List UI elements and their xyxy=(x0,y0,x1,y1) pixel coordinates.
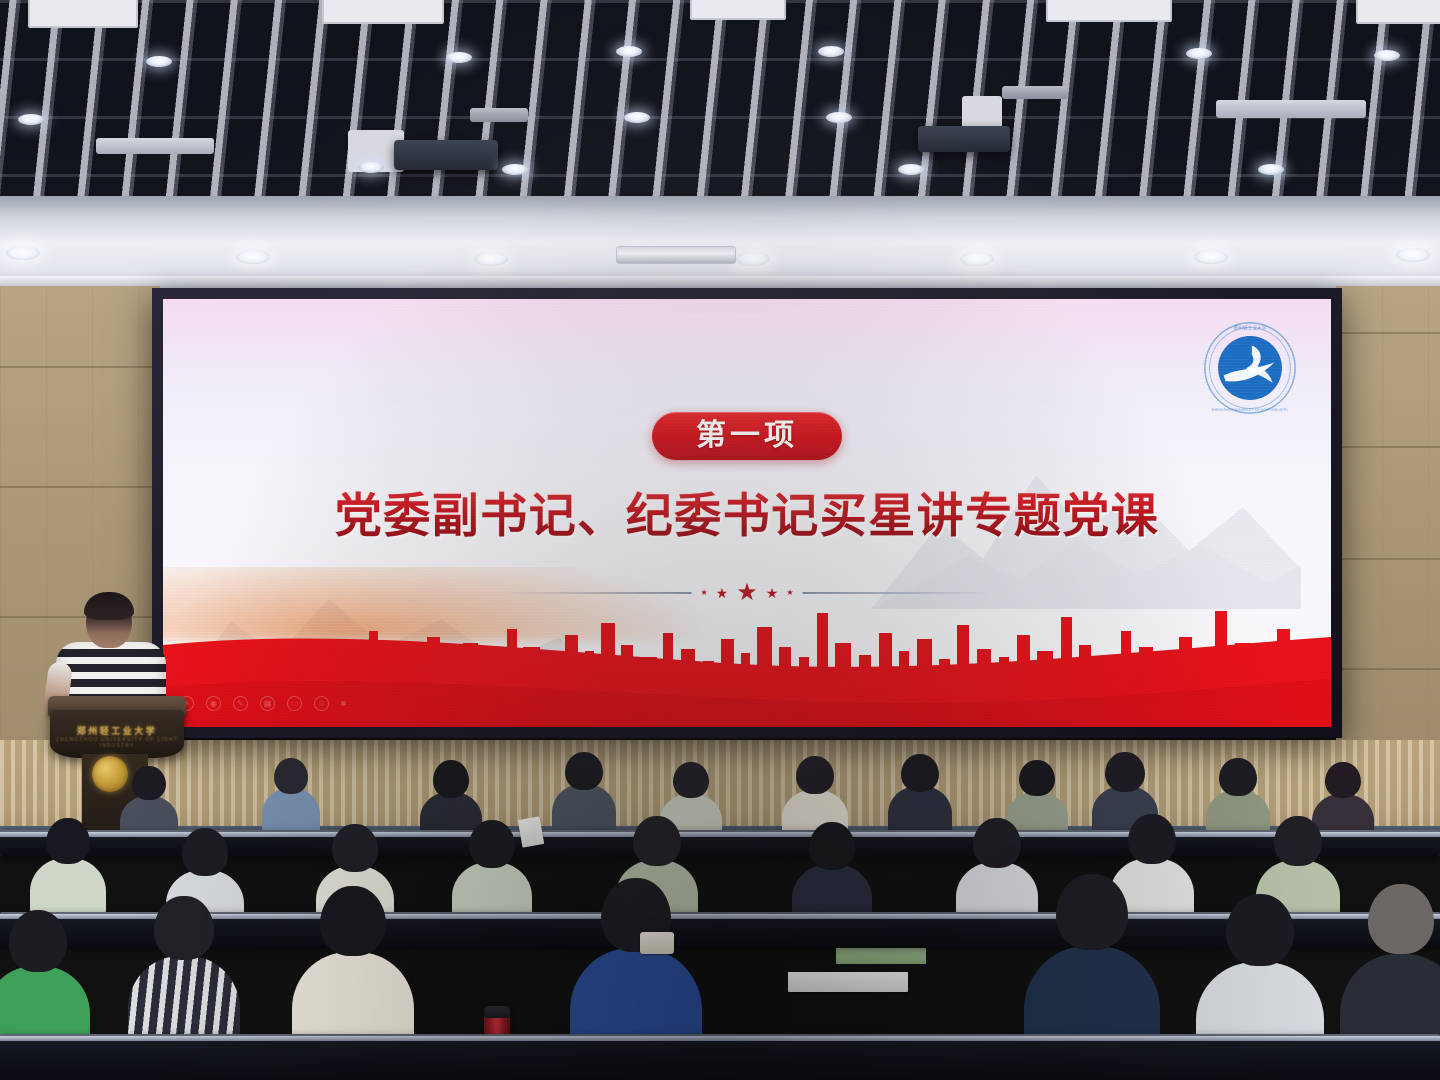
ceiling-downlight xyxy=(624,112,650,123)
audience-member xyxy=(30,818,106,914)
person-head xyxy=(1219,758,1257,796)
person-head xyxy=(1056,874,1128,950)
person-head xyxy=(9,910,67,972)
speaker-hair xyxy=(84,592,134,620)
person-head xyxy=(796,756,834,794)
ceiling-speaker xyxy=(1002,86,1068,99)
person-head xyxy=(901,754,939,792)
pen-icon[interactable]: ✎ xyxy=(233,696,248,711)
ceiling-air-duct xyxy=(1216,100,1366,118)
ceiling-access-panel xyxy=(690,0,786,20)
face-icon[interactable]: ☺ xyxy=(314,696,329,711)
person-head xyxy=(673,762,709,798)
audience-member xyxy=(888,754,952,832)
ceiling-access-panel xyxy=(322,0,444,24)
led-screen[interactable]: 郑州轻工业大学 ZHENGZHOU UNIVERSITY OF LIGHT IN… xyxy=(163,299,1331,727)
desk-surface xyxy=(0,1036,1440,1041)
audience-member xyxy=(128,896,240,1046)
projector-mount xyxy=(962,96,1002,130)
grid-icon[interactable]: ▦ xyxy=(260,696,275,711)
person-head xyxy=(320,886,386,956)
svg-text:郑州轻工业大学: 郑州轻工业大学 xyxy=(1234,324,1267,331)
slide-toolbar[interactable]: ☀ ◉ ✎ ▦ ▭ ☺ xyxy=(179,696,346,711)
wall-right xyxy=(1336,286,1440,756)
person-head xyxy=(1368,884,1434,954)
person-torso xyxy=(262,788,320,834)
person-head xyxy=(1274,816,1322,866)
thermos-cap xyxy=(484,1006,510,1018)
ceiling-downlight xyxy=(1258,164,1284,175)
lecture-hall-scene: 郑州轻工业大学 ZHENGZHOU UNIVERSITY OF LIGHT IN… xyxy=(0,0,1440,1080)
person-head xyxy=(1128,814,1176,864)
soffit-air-vent xyxy=(616,246,736,264)
ceiling-access-panel xyxy=(1356,0,1440,24)
soffit-downlight xyxy=(6,246,40,260)
audience-member xyxy=(552,752,616,832)
ceiling-projector xyxy=(918,126,1010,152)
soffit-downlight xyxy=(1396,248,1430,262)
ceiling-downlight xyxy=(1186,48,1212,59)
person-head xyxy=(469,820,515,868)
ceiling-downlight xyxy=(18,114,44,125)
audience-member xyxy=(262,758,320,832)
person-head xyxy=(46,818,90,864)
eye-icon[interactable]: ◉ xyxy=(206,696,221,711)
person-head xyxy=(132,766,166,800)
person-head xyxy=(154,896,214,960)
slide-skyline-graphic: ☀ ◉ ✎ ▦ ▭ ☺ xyxy=(163,567,1331,727)
audience-member xyxy=(0,910,90,1046)
person-head xyxy=(809,822,855,870)
ceiling-downlight xyxy=(818,46,844,57)
person-torso xyxy=(552,784,616,834)
podium-front-text: 郑州轻工业大学 xyxy=(50,724,184,737)
audience-seating xyxy=(0,744,1440,1080)
ceiling-speaker xyxy=(470,108,528,122)
audience-member xyxy=(792,822,872,922)
person-torso xyxy=(30,858,106,916)
person-head xyxy=(1019,760,1055,796)
soffit-downlight xyxy=(960,252,994,266)
audience-member xyxy=(1024,874,1160,1054)
green-folder xyxy=(836,948,926,964)
soffit-downlight xyxy=(736,252,770,266)
institution-emblem-icon: 郑州轻工业大学 ZHENGZHOU UNIVERSITY OF LIGHT IN… xyxy=(1203,321,1297,415)
ceiling-downlight xyxy=(826,112,852,123)
frame-icon[interactable]: ▭ xyxy=(287,696,302,711)
ceiling-access-panel xyxy=(1046,0,1172,22)
slide-section-badge-label: 第一项 xyxy=(696,421,798,451)
audience-member xyxy=(292,886,414,1048)
ceiling-access-panel xyxy=(28,0,138,28)
slide-title: 党委副书记、纪委书记买星讲专题党课 xyxy=(177,477,1317,546)
ceiling-downlight xyxy=(446,52,472,63)
slide-section-badge: 第一项 xyxy=(652,412,842,460)
person-head xyxy=(633,816,681,866)
svg-text:ZHENGZHOU UNIVERSITY OF LIGHT: ZHENGZHOU UNIVERSITY OF LIGHT INDUSTRY xyxy=(1211,408,1289,412)
ceiling-downlight xyxy=(616,46,642,57)
ceiling-downlight xyxy=(502,164,528,175)
person-head xyxy=(274,758,308,794)
person-head xyxy=(182,828,228,876)
toolbar-overflow-dot[interactable] xyxy=(341,701,346,706)
person-head xyxy=(1226,894,1294,966)
ceiling-downlight xyxy=(358,162,384,173)
person-head xyxy=(1325,762,1361,798)
ceiling-downlight xyxy=(1374,50,1400,61)
audience-member xyxy=(1340,884,1440,1056)
handout-paper xyxy=(518,816,545,847)
audience-member xyxy=(570,878,702,1054)
soffit-downlight xyxy=(1194,250,1228,264)
ceiling-downlight xyxy=(898,164,924,175)
person-head xyxy=(973,818,1021,868)
person-head xyxy=(332,824,378,872)
ceiling-air-duct xyxy=(96,138,214,154)
soffit-downlight xyxy=(474,252,508,266)
person-head xyxy=(565,752,603,790)
soffit-downlight xyxy=(236,250,270,264)
person-torso xyxy=(888,786,952,834)
hair-clip xyxy=(640,932,674,954)
led-screen-bezel: 郑州轻工业大学 ZHENGZHOU UNIVERSITY OF LIGHT IN… xyxy=(152,288,1342,738)
handout-paper xyxy=(788,972,908,992)
ceiling-projector xyxy=(394,140,498,170)
person-head xyxy=(1105,752,1145,792)
desk-row xyxy=(0,1034,1440,1080)
person-head xyxy=(433,760,469,798)
ceiling-downlight xyxy=(146,56,172,67)
ceiling xyxy=(0,0,1440,200)
